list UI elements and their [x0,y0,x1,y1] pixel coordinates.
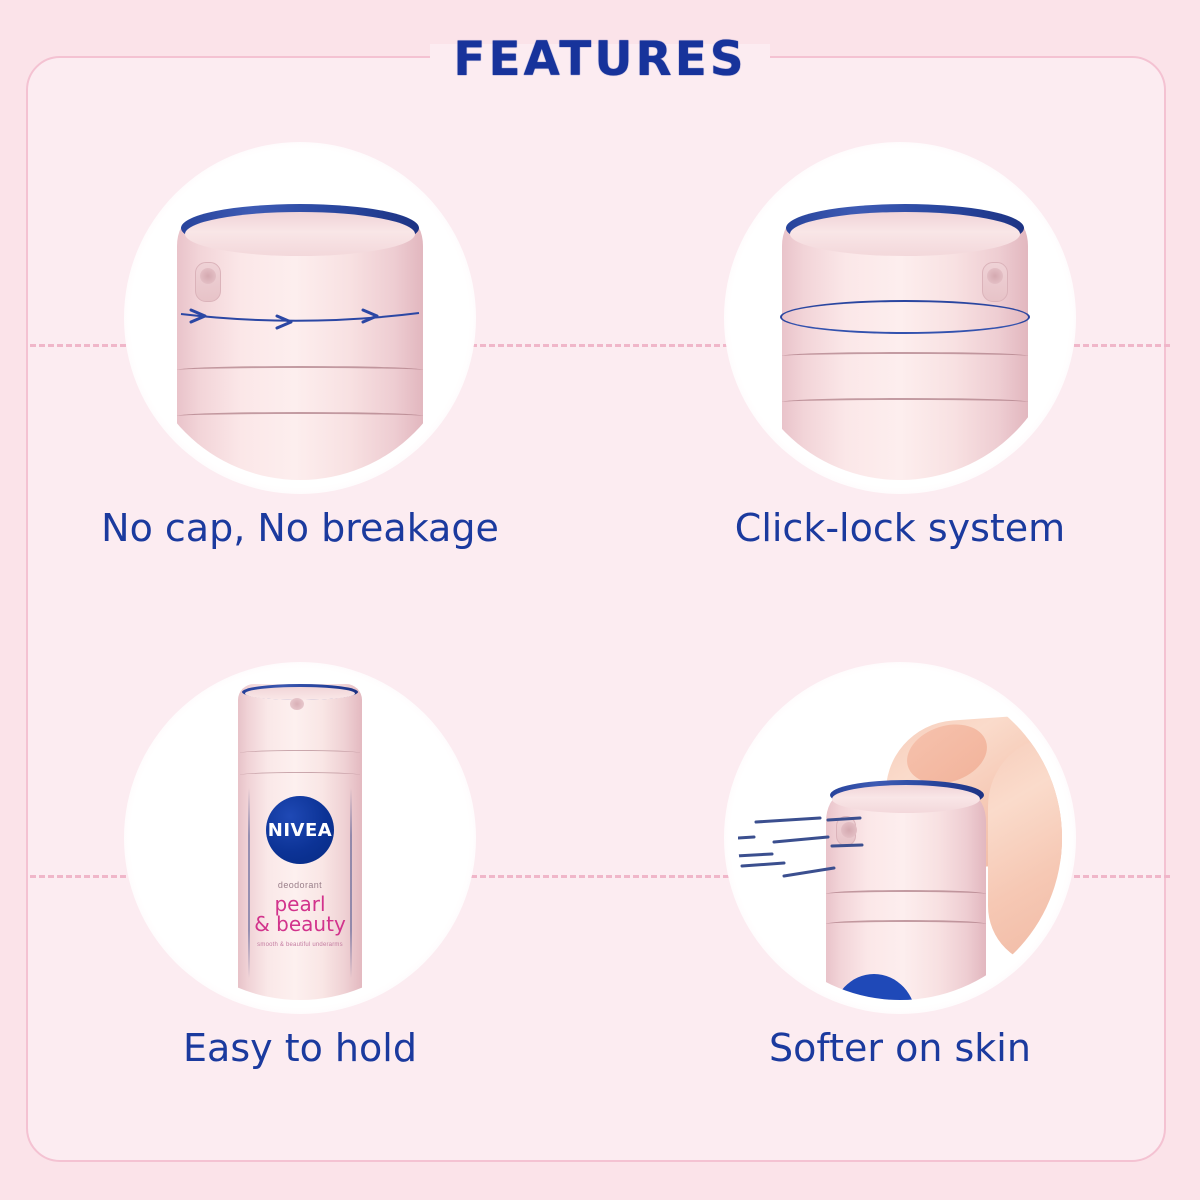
rotation-arrow-band-icon [177,302,423,334]
can-ridge [782,398,1028,406]
circle-clip [738,676,1062,1000]
feature-page: FEATURES [0,0,1200,1200]
can-cap-face [790,212,1020,256]
nivea-bottle: NIVEA deodorant pearl & beauty smooth & … [238,684,362,1000]
product-category-label: deodorant [238,880,362,890]
product-tagline: smooth & beautiful underarms [238,942,362,948]
can-ridge [826,920,986,928]
feature-caption: Easy to hold [0,1026,600,1070]
circle-clip: NIVEA deodorant pearl & beauty smooth & … [138,676,462,1000]
bottle-ridge [240,772,360,778]
can-ridge [177,412,423,420]
spray-nozzle-icon [290,698,304,710]
can-cap-face [185,212,415,256]
circle-clip [138,156,462,480]
circle-clip [738,156,1062,480]
feature-image-circle [724,662,1076,1014]
feature-image-circle: NIVEA deodorant pearl & beauty smooth & … [124,662,476,1014]
feature-caption: Click-lock system [600,506,1200,550]
bottle-ridge [240,750,360,756]
page-title: FEATURES [0,32,1200,87]
click-lock-ring-icon [780,300,1030,334]
nivea-logo: NIVEA [266,796,334,864]
deodorant-can-top [782,204,1028,480]
feature-card-easy-to-hold[interactable]: NIVEA deodorant pearl & beauty smooth & … [0,640,600,1200]
feature-caption: Softer on skin [600,1026,1200,1070]
can-body [177,220,423,480]
feature-card-softer-on-skin[interactable]: Softer on skin [600,640,1200,1200]
feature-image-circle [724,142,1076,494]
can-body [782,220,1028,480]
nivea-logo-text: NIVEA [268,820,332,841]
deodorant-can-top [177,204,423,480]
feature-caption: No cap, No breakage [0,506,600,550]
feature-image-circle [124,142,476,494]
feature-card-click-lock-system[interactable]: Click-lock system [600,120,1200,680]
finger-knuckle [988,736,1062,966]
can-ridge [782,352,1028,360]
features-grid: No cap, No breakage [0,0,1200,1200]
can-ridge [177,366,423,374]
spray-lines-icon [738,804,872,894]
spray-nozzle-icon [982,262,1008,302]
product-variant-label: pearl & beauty [238,894,362,934]
spray-nozzle-icon [195,262,221,302]
feature-card-no-cap-no-breakage[interactable]: No cap, No breakage [0,120,600,680]
